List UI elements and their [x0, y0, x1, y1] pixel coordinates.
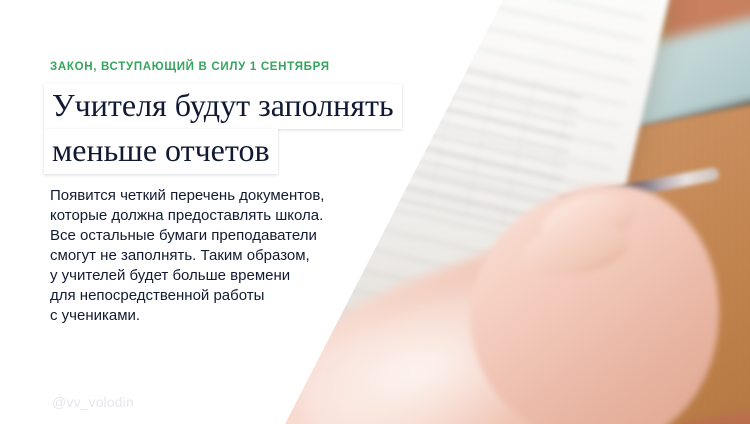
watermark-handle: @vv_volodin: [52, 394, 134, 410]
body-line-2: которые должна предоставлять школа.: [50, 206, 380, 226]
headline: Учителя будут заполнять меньше отчетов: [44, 84, 484, 174]
body-text: Появится четкий перечень документов, кот…: [50, 186, 380, 326]
social-media-card: ЗАКОН, ВСТУПАЮЩИЙ В СИЛУ 1 СЕНТЯБРЯ Учит…: [0, 0, 750, 424]
headline-line-1: Учителя будут заполнять: [44, 84, 402, 129]
body-line-7: с учениками.: [50, 306, 380, 326]
body-line-6: для непосредственной работы: [50, 286, 380, 306]
headline-line-2: меньше отчетов: [44, 129, 278, 174]
body-line-5: у учителей будет больше времени: [50, 266, 380, 286]
body-line-1: Появится четкий перечень документов,: [50, 186, 380, 206]
kicker-label: ЗАКОН, ВСТУПАЮЩИЙ В СИЛУ 1 СЕНТЯБРЯ: [50, 61, 330, 73]
card-content: ЗАКОН, ВСТУПАЮЩИЙ В СИЛУ 1 СЕНТЯБРЯ Учит…: [50, 0, 470, 424]
body-line-3: Все остальные бумаги преподаватели: [50, 226, 380, 246]
body-line-4: смогут не заполнять. Таким образом,: [50, 246, 380, 266]
